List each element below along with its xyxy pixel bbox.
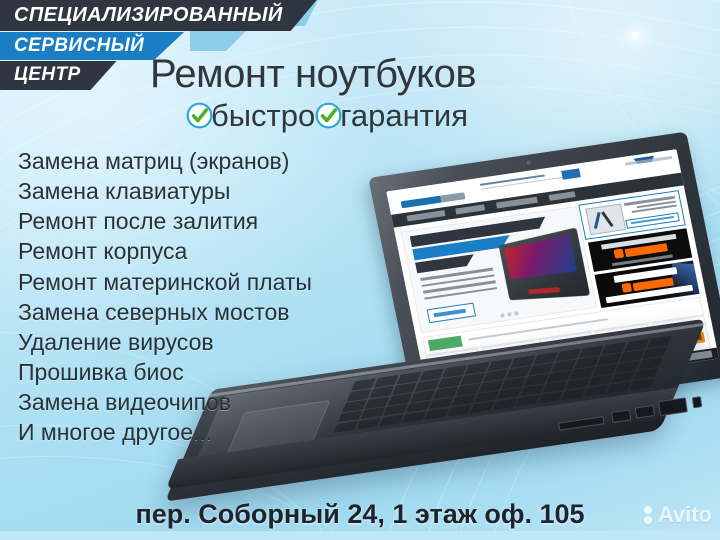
banner-center: ЦЕНТР — [0, 61, 117, 90]
list-item: Ремонт после залития — [18, 206, 312, 236]
tools-icon — [585, 203, 626, 235]
list-item: Замена северных мостов — [18, 297, 312, 327]
xiaomi-mark — [621, 283, 632, 293]
list-item: Ремонт корпуса — [18, 236, 312, 266]
nav-item — [548, 192, 575, 202]
banner-label: СЕРВИСНЫЙ — [14, 35, 144, 56]
usb-port — [635, 405, 655, 419]
vga-port — [658, 397, 688, 416]
banner-label: СПЕЦИАЛИЗИРОВАННЫЙ — [14, 4, 283, 26]
list-item: Удаление вирусов — [18, 327, 312, 357]
banner-label: ЦЕНТР — [14, 64, 81, 85]
page-title: Ремонт ноутбуков — [150, 52, 476, 97]
feature-line: быстро гарантия — [186, 100, 468, 131]
card-reader-port — [558, 416, 605, 430]
check-circle-icon — [186, 102, 213, 129]
avito-watermark: Avito — [643, 502, 712, 528]
carousel-dots — [501, 311, 520, 318]
nav-item — [496, 197, 538, 209]
list-item: Замена матриц (экранов) — [18, 146, 312, 176]
lock-slot — [692, 396, 702, 408]
hero-bullet-list — [420, 267, 498, 303]
xiaomi-mark — [613, 249, 624, 259]
site-hero-banner — [400, 206, 597, 334]
nav-item — [456, 205, 486, 215]
carousel-dot — [501, 313, 506, 317]
hero-laptop-image — [499, 228, 590, 300]
list-item: Ремонт материнской платы — [18, 267, 312, 297]
webcam-icon — [526, 160, 531, 164]
light-glow-dot — [630, 30, 641, 41]
avito-dots-icon — [643, 505, 654, 525]
site-search-button — [561, 169, 580, 180]
list-item: Прошивка биос — [18, 357, 312, 387]
carousel-dot — [515, 311, 520, 315]
panel-button — [625, 212, 680, 229]
services-list: Замена матриц (экранов) Замена клавиатур… — [18, 146, 312, 447]
promo-poster: СПЕЦИАЛИЗИРОВАННЫЙ СЕРВИСНЫЙ ЦЕНТР Ремон… — [0, 0, 720, 540]
nav-item — [406, 211, 445, 222]
list-item: Замена видеочипов — [18, 387, 312, 417]
check-circle-icon — [315, 102, 342, 129]
list-item: И многое другое... — [18, 417, 312, 447]
section-tag — [428, 335, 463, 351]
list-item: Замена клавиатуры — [18, 176, 312, 206]
hero-cta-button — [426, 302, 476, 323]
address-bar: пер. Соборный 24, 1 этаж оф. 105 — [0, 499, 720, 530]
bottom-strip — [0, 531, 720, 540]
feature-warranty-label: гарантия — [340, 100, 468, 131]
usb-port — [611, 409, 631, 423]
avito-label: Avito — [658, 502, 712, 528]
feature-fast-label: быстро — [211, 100, 315, 131]
carousel-dot — [508, 312, 513, 316]
banner-specialized: СПЕЦИАЛИЗИРОВАННЫЙ — [0, 0, 317, 31]
